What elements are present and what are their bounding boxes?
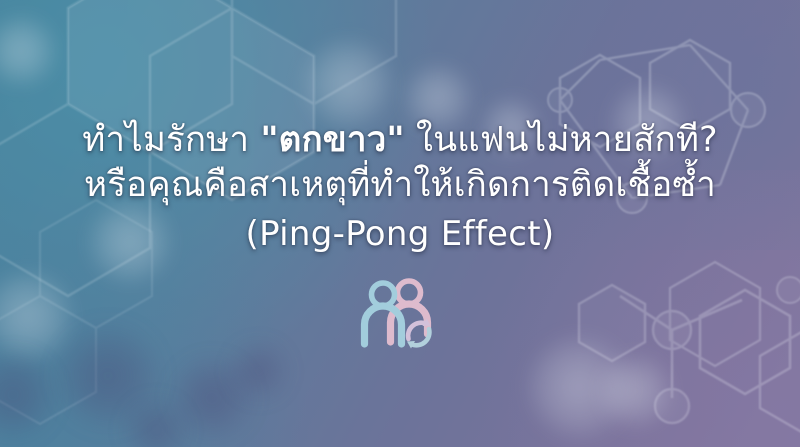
headline-line-1-suffix: ในแฟนไม่หายสักที? xyxy=(405,120,718,160)
two-people-recycle-icon xyxy=(357,276,443,356)
headline-line-3: (Ping-Pong Effect) xyxy=(20,208,780,260)
headline: ทำไมรักษา "ตกขาว" ในแฟนไม่หายสักที? หรือ… xyxy=(20,118,780,260)
headline-line-1-quoted: "ตกขาว" xyxy=(260,120,404,160)
headline-line-2: หรือคุณคือสาเหตุที่ทำให้เกิดการติดเชื้อซ… xyxy=(20,163,780,208)
banner-content: ทำไมรักษา "ตกขาว" ในแฟนไม่หายสักที? หรือ… xyxy=(0,0,800,447)
headline-line-1-prefix: ทำไมรักษา xyxy=(82,120,260,160)
person-left-icon xyxy=(365,283,402,344)
promo-banner: ทำไมรักษา "ตกขาว" ในแฟนไม่หายสักที? หรือ… xyxy=(0,0,800,447)
headline-line-1: ทำไมรักษา "ตกขาว" ในแฟนไม่หายสักที? xyxy=(20,118,780,163)
logo xyxy=(357,276,443,356)
